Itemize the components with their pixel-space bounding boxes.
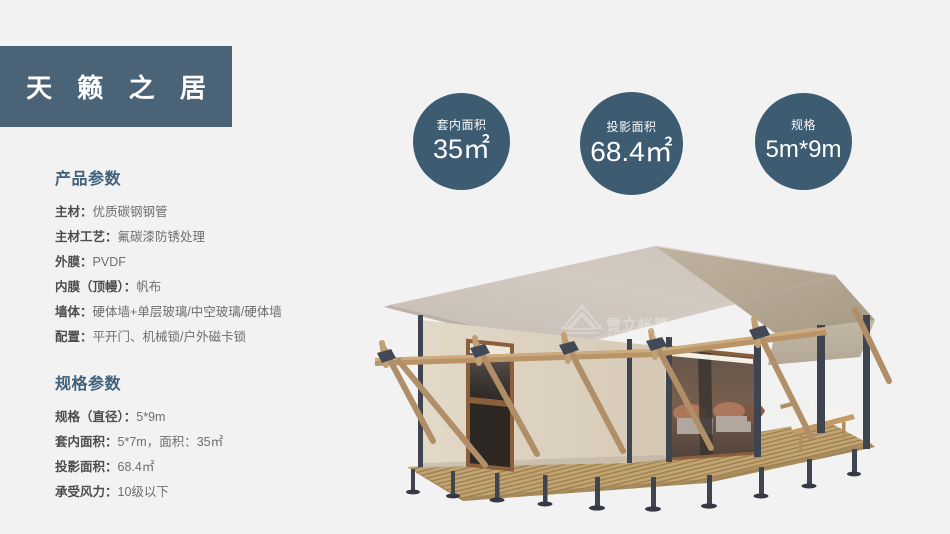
- spec-value: 68.4㎡: [118, 460, 155, 474]
- spec-key: 主材工艺：: [55, 230, 118, 244]
- spec-value: 10级以下: [118, 485, 169, 499]
- spec-section-dimensions: 规格参数 规格（直径）：5*9m 套内面积：5*7m，面积：35㎡ 投影面积：6…: [55, 370, 385, 505]
- spec-value: 5*9m: [136, 410, 165, 424]
- stat-badge-projected-area: 投影面积 68.4㎡: [580, 92, 683, 195]
- spec-value: 帆布: [136, 280, 161, 294]
- spec-key: 规格（直径）：: [55, 410, 136, 424]
- spec-key: 内膜（顶幔）：: [55, 280, 136, 294]
- spec-value: PVDF: [93, 255, 126, 269]
- support-leg: [495, 473, 500, 499]
- support-base-plate: [446, 494, 460, 499]
- spec-key: 投影面积：: [55, 460, 118, 474]
- tent-house-illustration: [355, 215, 950, 534]
- spec-row: 主材工艺：氟碳漆防锈处理: [55, 225, 385, 250]
- lounge-leg-left: [799, 434, 803, 450]
- product-spec-page: 天 籁 之 居 产品参数 主材：优质碳钢钢管 主材工艺：氟碳漆防锈处理 外膜：P…: [0, 0, 950, 534]
- spec-key: 套内面积：: [55, 435, 118, 449]
- tent-house-render: [355, 215, 950, 534]
- spec-key: 配置：: [55, 330, 93, 344]
- spec-row: 内膜（顶幔）：帆布: [55, 275, 385, 300]
- title-banner: 天 籁 之 居: [0, 46, 232, 127]
- spec-key: 承受风力：: [55, 485, 118, 499]
- spec-value: 氟碳漆防锈处理: [118, 230, 206, 244]
- stat-value: 35㎡: [433, 134, 490, 165]
- spec-heading-product: 产品参数: [55, 165, 385, 189]
- spec-value: 优质碳钢钢管: [93, 205, 168, 219]
- support-leg: [759, 467, 764, 495]
- spec-row: 投影面积：68.4㎡: [55, 455, 385, 480]
- stat-badge-interior-area: 套内面积 35㎡: [413, 93, 510, 190]
- steel-column: [817, 325, 825, 433]
- stat-label: 套内面积: [436, 118, 486, 132]
- steel-column: [754, 345, 761, 457]
- support-base-plate: [645, 506, 661, 511]
- stat-label: 规格: [791, 118, 816, 132]
- spec-row: 墙体：硬体墙+单层玻璃/中空玻璃/硬体墙: [55, 300, 385, 325]
- spec-row: 外膜：PVDF: [55, 250, 385, 275]
- support-base-plate: [589, 505, 605, 510]
- spec-key: 墙体：: [55, 305, 93, 319]
- support-leg: [807, 459, 812, 485]
- stat-value: 5m*9m: [765, 134, 841, 165]
- spec-key: 外膜：: [55, 255, 93, 269]
- spec-row: 主材：优质碳钢钢管: [55, 200, 385, 225]
- support-leg: [852, 449, 857, 473]
- support-leg: [543, 475, 548, 503]
- stat-value: 68.4㎡: [590, 136, 673, 167]
- support-leg: [651, 477, 656, 508]
- support-leg: [707, 475, 712, 505]
- wall-front-left: [421, 320, 631, 467]
- support-base-plate: [490, 498, 505, 503]
- spec-section-product: 产品参数 主材：优质碳钢钢管 主材工艺：氟碳漆防锈处理 外膜：PVDF 内膜（顶…: [55, 165, 385, 350]
- spec-key: 主材：: [55, 205, 93, 219]
- support-leg: [595, 477, 600, 507]
- spec-row: 承受风力：10级以下: [55, 480, 385, 505]
- specification-column: 产品参数 主材：优质碳钢钢管 主材工艺：氟碳漆防锈处理 外膜：PVDF 内膜（顶…: [55, 165, 385, 505]
- spec-row: 套内面积：5*7m，面积：35㎡: [55, 430, 385, 455]
- stat-badge-dimensions: 规格 5m*9m: [755, 93, 852, 190]
- spec-heading-dimensions: 规格参数: [55, 370, 385, 394]
- wall-front-mid: [629, 343, 667, 463]
- spec-row: 配置：平开门、机械锁/户外磁卡锁: [55, 325, 385, 350]
- lounge-leg-right: [842, 422, 846, 438]
- support-base-plate: [701, 503, 717, 508]
- support-base-plate: [406, 490, 420, 495]
- spec-row: 规格（直径）：5*9m: [55, 405, 385, 430]
- spec-value: 5*7m，面积：35㎡: [118, 435, 224, 449]
- support-base-plate: [847, 472, 861, 477]
- support-leg: [451, 471, 455, 495]
- stat-label: 投影面积: [606, 120, 656, 134]
- page-title: 天 籁 之 居: [17, 68, 215, 105]
- spec-value: 平开门、机械锁/户外磁卡锁: [93, 330, 246, 344]
- spec-value: 硬体墙+单层玻璃/中空玻璃/硬体墙: [93, 305, 282, 319]
- steel-column: [666, 337, 672, 462]
- support-base-plate: [754, 494, 769, 499]
- support-base-plate: [802, 484, 817, 489]
- support-base-plate: [538, 502, 553, 507]
- support-leg: [411, 469, 415, 491]
